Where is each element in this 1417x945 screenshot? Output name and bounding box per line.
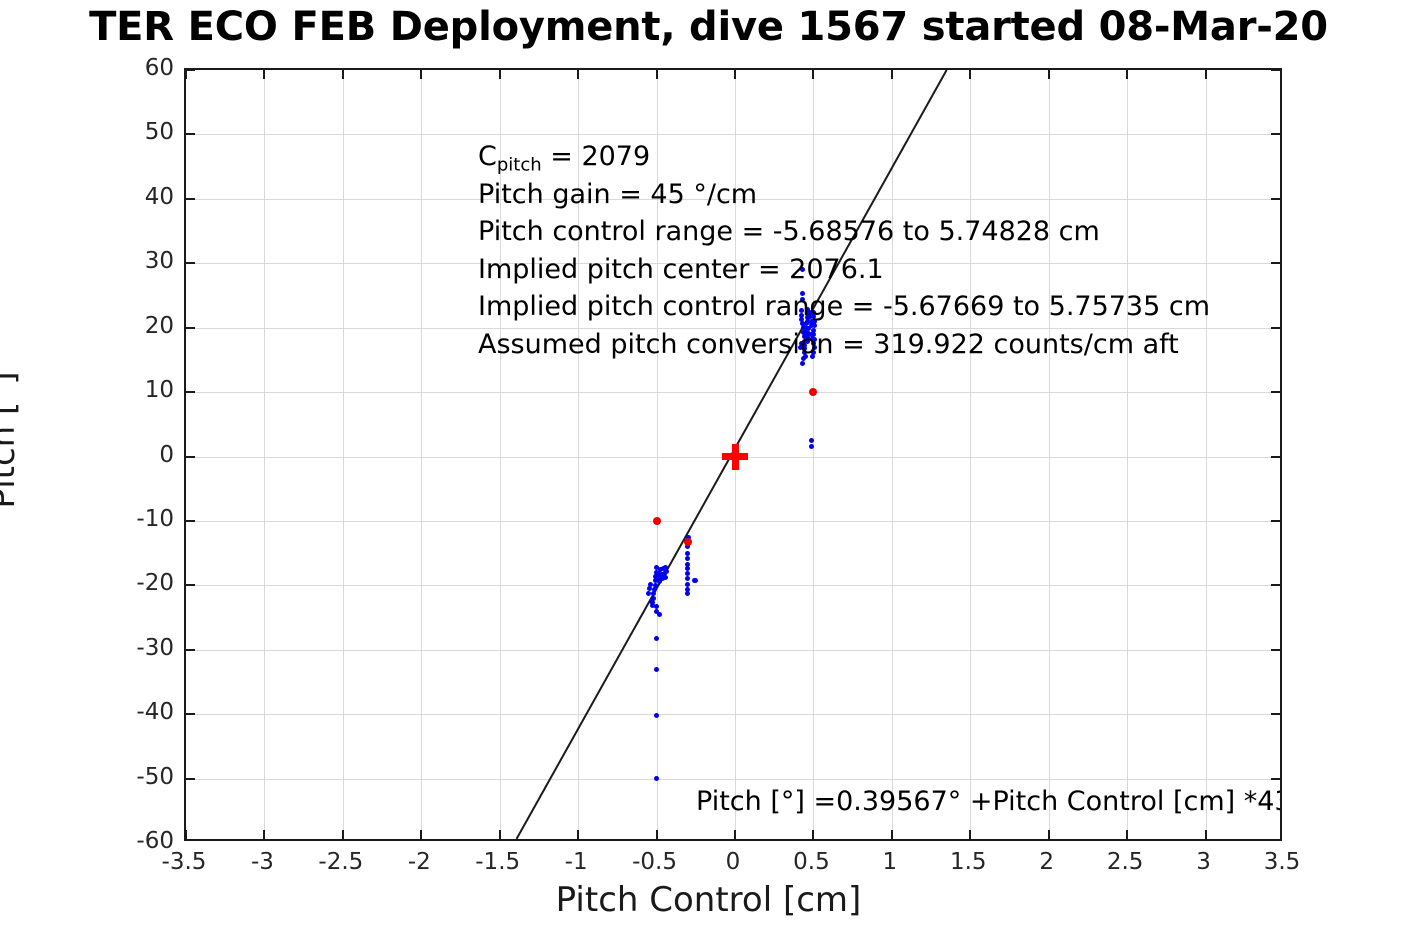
x-tick-label: 2	[1039, 849, 1054, 875]
gridline-horizontal	[186, 392, 1280, 393]
y-tick-mark	[185, 69, 195, 71]
gridline-horizontal	[186, 263, 1280, 264]
x-tick-label: -1	[565, 849, 588, 875]
y-tick-label: 60	[96, 55, 174, 81]
y-tick-mark	[1271, 198, 1281, 200]
x-tick-mark	[499, 830, 501, 840]
y-tick-mark	[1271, 133, 1281, 135]
y-tick-mark	[185, 456, 195, 458]
y-tick-label: 40	[96, 184, 174, 210]
annotation-line-cpitch: Cpitch = 2079	[478, 138, 1210, 176]
annotation-textbox: Cpitch = 2079 Pitch gain = 45 °/cm Pitch…	[478, 138, 1210, 363]
y-tick-mark	[185, 649, 195, 651]
chart-title-text: TER ECO FEB Deployment, dive 1567 starte…	[89, 2, 1328, 52]
x-tick-mark	[656, 830, 658, 840]
data-point	[800, 291, 805, 296]
y-axis-title: Pitch [°]	[0, 230, 23, 650]
y-tick-mark	[185, 198, 195, 200]
y-tick-label: 20	[96, 313, 174, 339]
x-tick-mark	[263, 830, 265, 840]
gridline-vertical	[421, 70, 422, 839]
y-tick-mark	[1271, 456, 1281, 458]
x-tick-mark	[185, 830, 187, 840]
x-tick-mark	[1205, 69, 1207, 79]
y-tick-label: 0	[96, 442, 174, 468]
annotation-cpitch-subscript: pitch	[497, 154, 542, 175]
chart-title: TER ECO FEB Deployment, dive 1567 starte…	[0, 2, 1417, 54]
x-tick-label: 0	[726, 849, 741, 875]
y-tick-mark	[185, 713, 195, 715]
x-tick-mark	[577, 830, 579, 840]
gridline-vertical	[1049, 70, 1050, 839]
y-tick-mark	[1271, 713, 1281, 715]
data-point	[800, 297, 805, 302]
x-tick-mark	[969, 69, 971, 79]
x-tick-mark	[420, 69, 422, 79]
x-tick-label: -0.5	[632, 849, 677, 875]
annotation-line-pitch-gain: Pitch gain = 45 °/cm	[478, 176, 1210, 214]
gridline-vertical	[1206, 70, 1207, 839]
data-point	[684, 538, 692, 546]
data-point	[657, 612, 662, 617]
data-point	[663, 575, 668, 580]
x-tick-mark	[1048, 830, 1050, 840]
annotation-line-implied-pitch-center: Implied pitch center = 2076.1	[478, 251, 1210, 289]
y-tick-mark	[1271, 391, 1281, 393]
gridline-vertical	[1127, 70, 1128, 839]
gridline-vertical	[813, 70, 814, 839]
x-tick-mark	[969, 830, 971, 840]
gridline-horizontal	[186, 714, 1280, 715]
y-tick-label: -40	[96, 699, 174, 725]
gridline-vertical	[264, 70, 265, 839]
y-tick-label: 50	[96, 119, 174, 145]
x-tick-mark	[1048, 69, 1050, 79]
x-tick-mark	[1205, 830, 1207, 840]
x-tick-mark	[342, 69, 344, 79]
x-axis-title: Pitch Control [cm]	[0, 880, 1417, 920]
y-tick-label: 10	[96, 377, 174, 403]
gridline-horizontal	[186, 199, 1280, 200]
y-tick-mark	[1271, 584, 1281, 586]
data-point	[654, 667, 659, 672]
x-tick-label: -2	[408, 849, 431, 875]
fit-equation-label: Pitch [°] =0.39567° +Pitch Control [cm] …	[696, 786, 1282, 817]
annotation-line-implied-control-range: Implied pitch control range = -5.67669 t…	[478, 288, 1210, 326]
data-point	[654, 776, 659, 781]
x-tick-mark	[420, 830, 422, 840]
gridline-vertical	[578, 70, 579, 839]
y-tick-mark	[1271, 649, 1281, 651]
y-tick-mark	[1271, 778, 1281, 780]
x-tick-label: 0.5	[793, 849, 830, 875]
x-tick-mark	[342, 830, 344, 840]
data-point	[685, 591, 690, 596]
x-tick-mark	[812, 69, 814, 79]
annotation-line-assumed-conversion: Assumed pitch conversion = 319.922 count…	[478, 326, 1210, 364]
y-tick-mark	[185, 391, 195, 393]
y-tick-mark	[185, 520, 195, 522]
data-point	[654, 636, 659, 641]
x-tick-mark	[1126, 69, 1128, 79]
x-tick-mark	[499, 69, 501, 79]
gridline-vertical	[970, 70, 971, 839]
x-tick-label: 1.5	[950, 849, 987, 875]
gridline-vertical	[343, 70, 344, 839]
y-tick-mark	[1271, 262, 1281, 264]
x-tick-mark	[263, 69, 265, 79]
y-tick-mark	[185, 262, 195, 264]
data-point	[646, 591, 651, 596]
annotation-cpitch-suffix: = 2079	[542, 141, 651, 172]
y-tick-mark	[1271, 69, 1281, 71]
y-tick-label: -60	[96, 828, 174, 854]
y-tick-label: -30	[96, 635, 174, 661]
data-point	[685, 556, 690, 561]
x-tick-mark	[734, 830, 736, 840]
data-point	[809, 388, 817, 396]
gridline-horizontal	[186, 328, 1280, 329]
plot-area: Cpitch = 2079 Pitch gain = 45 °/cm Pitch…	[184, 68, 1282, 841]
x-tick-label: -2.5	[318, 849, 363, 875]
gridline-horizontal	[186, 521, 1280, 522]
x-tick-mark	[891, 830, 893, 840]
data-point	[800, 361, 805, 366]
x-tick-mark	[812, 830, 814, 840]
center-cross-marker	[732, 444, 739, 470]
x-tick-label: 3.5	[1264, 849, 1301, 875]
y-tick-label: -20	[96, 570, 174, 596]
y-tick-label: 30	[96, 248, 174, 274]
y-tick-mark	[1271, 520, 1281, 522]
gridline-horizontal	[186, 650, 1280, 651]
gridline-horizontal	[186, 779, 1280, 780]
data-point	[693, 578, 698, 583]
x-tick-label: -1.5	[475, 849, 520, 875]
x-tick-label: 3	[1196, 849, 1211, 875]
y-tick-mark	[185, 327, 195, 329]
x-tick-mark	[891, 69, 893, 79]
gridline-horizontal	[186, 134, 1280, 135]
data-point	[664, 569, 669, 574]
y-tick-mark	[185, 778, 195, 780]
y-tick-mark	[185, 133, 195, 135]
x-tick-mark	[656, 69, 658, 79]
data-point	[800, 267, 805, 272]
x-tick-label: 1	[883, 849, 898, 875]
data-point	[654, 713, 659, 718]
data-point	[653, 517, 661, 525]
data-point	[810, 354, 815, 359]
y-tick-label: -50	[96, 764, 174, 790]
x-tick-mark	[734, 69, 736, 79]
y-tick-mark	[185, 584, 195, 586]
x-tick-label: -3	[251, 849, 274, 875]
annotation-cpitch-prefix: C	[478, 141, 497, 172]
x-tick-mark	[577, 69, 579, 79]
x-tick-label: 2.5	[1107, 849, 1144, 875]
gridline-horizontal	[186, 585, 1280, 586]
y-tick-label: -10	[96, 506, 174, 532]
gridline-vertical	[500, 70, 501, 839]
gridline-vertical	[892, 70, 893, 839]
data-point	[685, 576, 690, 581]
gridline-vertical	[657, 70, 658, 839]
x-tick-mark	[1126, 830, 1128, 840]
annotation-line-pitch-control-range: Pitch control range = -5.68576 to 5.7482…	[478, 213, 1210, 251]
y-tick-mark	[1271, 327, 1281, 329]
